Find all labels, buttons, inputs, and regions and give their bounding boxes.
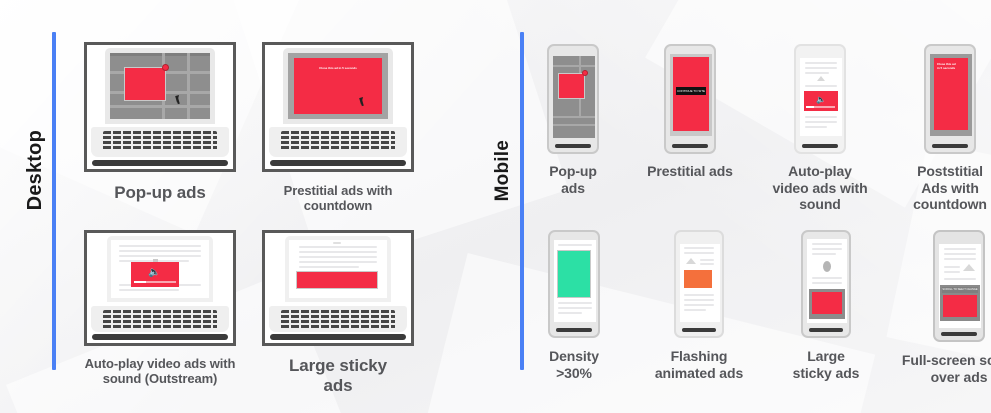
laptop-base <box>91 306 229 332</box>
prestitial-countdown-text: Close this ad in 5 seconds <box>294 66 382 70</box>
section-desktop: Desktop <box>0 0 492 413</box>
card-mobile-prestitial[interactable]: CONTINUE TO SITE Prestitial ads <box>644 44 736 213</box>
card-mobile-autoplay-video[interactable]: 🔈 Auto-play video ads with sound <box>772 44 868 213</box>
ad-close-icon[interactable] <box>162 64 169 71</box>
laptop-lid <box>285 236 391 302</box>
caption-desktop-video: Auto-play video ads with sound (Outstrea… <box>80 356 240 387</box>
section-mobile: Mobile Pop-up ads <box>478 0 991 413</box>
continue-to-site-button[interactable]: CONTINUE TO SITE <box>676 87 706 95</box>
video-progress-bar[interactable] <box>806 106 814 108</box>
laptop-base <box>91 127 229 157</box>
card-desktop-prestitial[interactable]: Close this ad in 5 seconds Prestitial ad… <box>262 42 414 214</box>
prestitial-ad-overlay[interactable]: Close this ad in 5 seconds <box>294 58 382 114</box>
desktop-prestitial-frame: Close this ad in 5 seconds <box>262 42 414 172</box>
video-progress-track[interactable] <box>146 281 176 283</box>
laptop-screen: Close this ad in 5 seconds <box>288 53 388 119</box>
phone-screen <box>554 240 596 322</box>
card-desktop-autoplay-video[interactable]: 🔈 Auto-play video <box>80 230 240 396</box>
continue-to-site-label: CONTINUE TO SITE <box>676 87 706 95</box>
laptop-screen: 🔈 <box>111 240 209 298</box>
phone-illustration: Close this ad in 5 seconds <box>924 44 976 154</box>
phone-home-bar <box>941 332 977 336</box>
speaker-icon: 🔈 <box>816 96 826 104</box>
phone-illustration <box>548 230 600 338</box>
laptop-keyboard <box>103 131 216 151</box>
card-desktop-popup[interactable]: Pop-up ads <box>80 42 240 214</box>
image-placeholder-icon <box>817 76 825 81</box>
caption-mobile-poststitial: Poststitial Ads with countdown <box>904 163 991 213</box>
phone-screen: 🔈 <box>800 58 842 136</box>
laptop-foot <box>270 160 405 166</box>
phone-illustration <box>801 230 851 338</box>
phone-screen <box>807 239 847 323</box>
card-mobile-large-sticky[interactable]: Large sticky ads <box>788 230 864 385</box>
card-mobile-popup[interactable]: Pop-up ads <box>538 44 608 213</box>
poststitial-countdown-text: Close this ad in 5 seconds <box>937 62 959 70</box>
slide-canvas: Desktop <box>0 0 991 413</box>
video-tab-notch <box>153 259 158 262</box>
video-ad-overlay[interactable]: 🔈 <box>804 91 838 111</box>
phone-home-bar <box>556 328 592 332</box>
phone-illustration: CONTINUE TO SITE <box>664 44 716 154</box>
laptop-screen <box>289 240 387 298</box>
caption-mobile-fullscreen: Full-screen scroll over ads <box>900 352 991 385</box>
scroll-over-label: SCROLL TO SEE IT CHANGE <box>942 287 978 293</box>
card-desktop-large-sticky[interactable]: Large sticky ads <box>262 230 414 396</box>
image-placeholder-icon <box>963 264 975 271</box>
caption-mobile-popup: Pop-up ads <box>538 163 608 196</box>
laptop-base <box>269 127 407 157</box>
desktop-video-frame: 🔈 <box>84 230 236 346</box>
section-label-desktop: Desktop <box>24 130 47 210</box>
poststitial-ad-overlay[interactable]: Close this ad in 5 seconds <box>934 58 968 130</box>
popup-ad-overlay[interactable] <box>558 73 585 99</box>
caption-mobile-sticky: Large sticky ads <box>788 348 864 381</box>
section-label-mobile: Mobile <box>492 140 514 201</box>
popup-ad-overlay[interactable] <box>124 67 166 101</box>
caption-desktop-popup: Pop-up ads <box>80 183 240 203</box>
density-ad-block[interactable] <box>557 250 591 298</box>
phone-screen <box>553 56 595 138</box>
card-mobile-fullscreen-scroll[interactable]: SCROLL TO SEE IT CHANGE Full-screen scro… <box>900 230 991 385</box>
phone-illustration: 🔈 <box>794 44 846 154</box>
laptop-keyboard <box>281 310 394 330</box>
laptop-illustration: Close this ad in 5 seconds <box>269 48 407 166</box>
phone-illustration <box>674 230 724 338</box>
mobile-accent-bar <box>520 32 524 370</box>
caption-mobile-flashing: Flashing animated ads <box>646 348 752 381</box>
scroll-over-ad[interactable] <box>943 295 977 317</box>
scroll-over-label-bar: SCROLL TO SEE IT CHANGE <box>942 287 978 293</box>
phone-screen: SCROLL TO SEE IT CHANGE <box>939 244 981 328</box>
video-progress-track[interactable] <box>814 106 835 108</box>
laptop-illustration: 🔈 <box>91 236 229 340</box>
caption-mobile-prestitial: Prestitial ads <box>644 163 736 180</box>
caption-desktop-sticky: Large sticky ads <box>273 356 403 396</box>
phone-home-bar <box>555 144 591 148</box>
laptop-lid <box>105 48 215 124</box>
phone-illustration <box>547 44 599 154</box>
laptop-keyboard <box>281 131 394 151</box>
laptop-foot <box>270 334 405 340</box>
phone-home-bar <box>672 144 708 148</box>
card-mobile-density[interactable]: Density >30% <box>538 230 610 385</box>
phone-home-bar <box>809 328 844 332</box>
laptop-base <box>269 306 407 332</box>
ad-close-icon[interactable] <box>582 70 588 76</box>
phone-home-bar <box>802 144 838 148</box>
page-content-white <box>289 240 387 298</box>
phone-screen: CONTINUE TO SITE <box>670 54 712 136</box>
laptop-foot <box>92 160 227 166</box>
phone-screen <box>680 244 720 322</box>
laptop-keyboard <box>103 310 216 330</box>
desktop-accent-bar <box>52 32 56 370</box>
phone-home-bar <box>682 328 717 332</box>
laptop-lid: 🔈 <box>107 236 213 302</box>
phone-home-bar <box>932 144 968 148</box>
video-progress-bar[interactable] <box>134 281 146 283</box>
sticky-ad-banner[interactable] <box>812 292 842 314</box>
laptop-foot <box>92 334 227 340</box>
laptop-lid: Close this ad in 5 seconds <box>283 48 393 124</box>
caption-mobile-video: Auto-play video ads with sound <box>772 163 868 213</box>
flashing-ad-banner[interactable] <box>684 270 712 288</box>
image-placeholder-icon <box>686 258 696 264</box>
desktop-sticky-frame <box>262 230 414 346</box>
video-ad-overlay[interactable]: 🔈 <box>131 262 179 287</box>
desktop-popup-frame <box>84 42 236 172</box>
laptop-illustration <box>91 48 229 166</box>
laptop-illustration <box>269 236 407 340</box>
caption-mobile-density: Density >30% <box>538 348 610 381</box>
laptop-screen <box>110 53 210 119</box>
sticky-ad-banner[interactable] <box>296 271 378 289</box>
card-mobile-poststitial[interactable]: Close this ad in 5 seconds Poststitial A… <box>904 44 991 213</box>
phone-illustration: SCROLL TO SEE IT CHANGE <box>933 230 985 342</box>
phone-screen: Close this ad in 5 seconds <box>930 54 972 136</box>
card-mobile-flashing[interactable]: Flashing animated ads <box>646 230 752 385</box>
caption-desktop-prestitial: Prestitial ads with countdown <box>263 183 413 214</box>
avatar-blob <box>823 261 831 272</box>
speaker-icon: 🔈 <box>148 268 160 278</box>
